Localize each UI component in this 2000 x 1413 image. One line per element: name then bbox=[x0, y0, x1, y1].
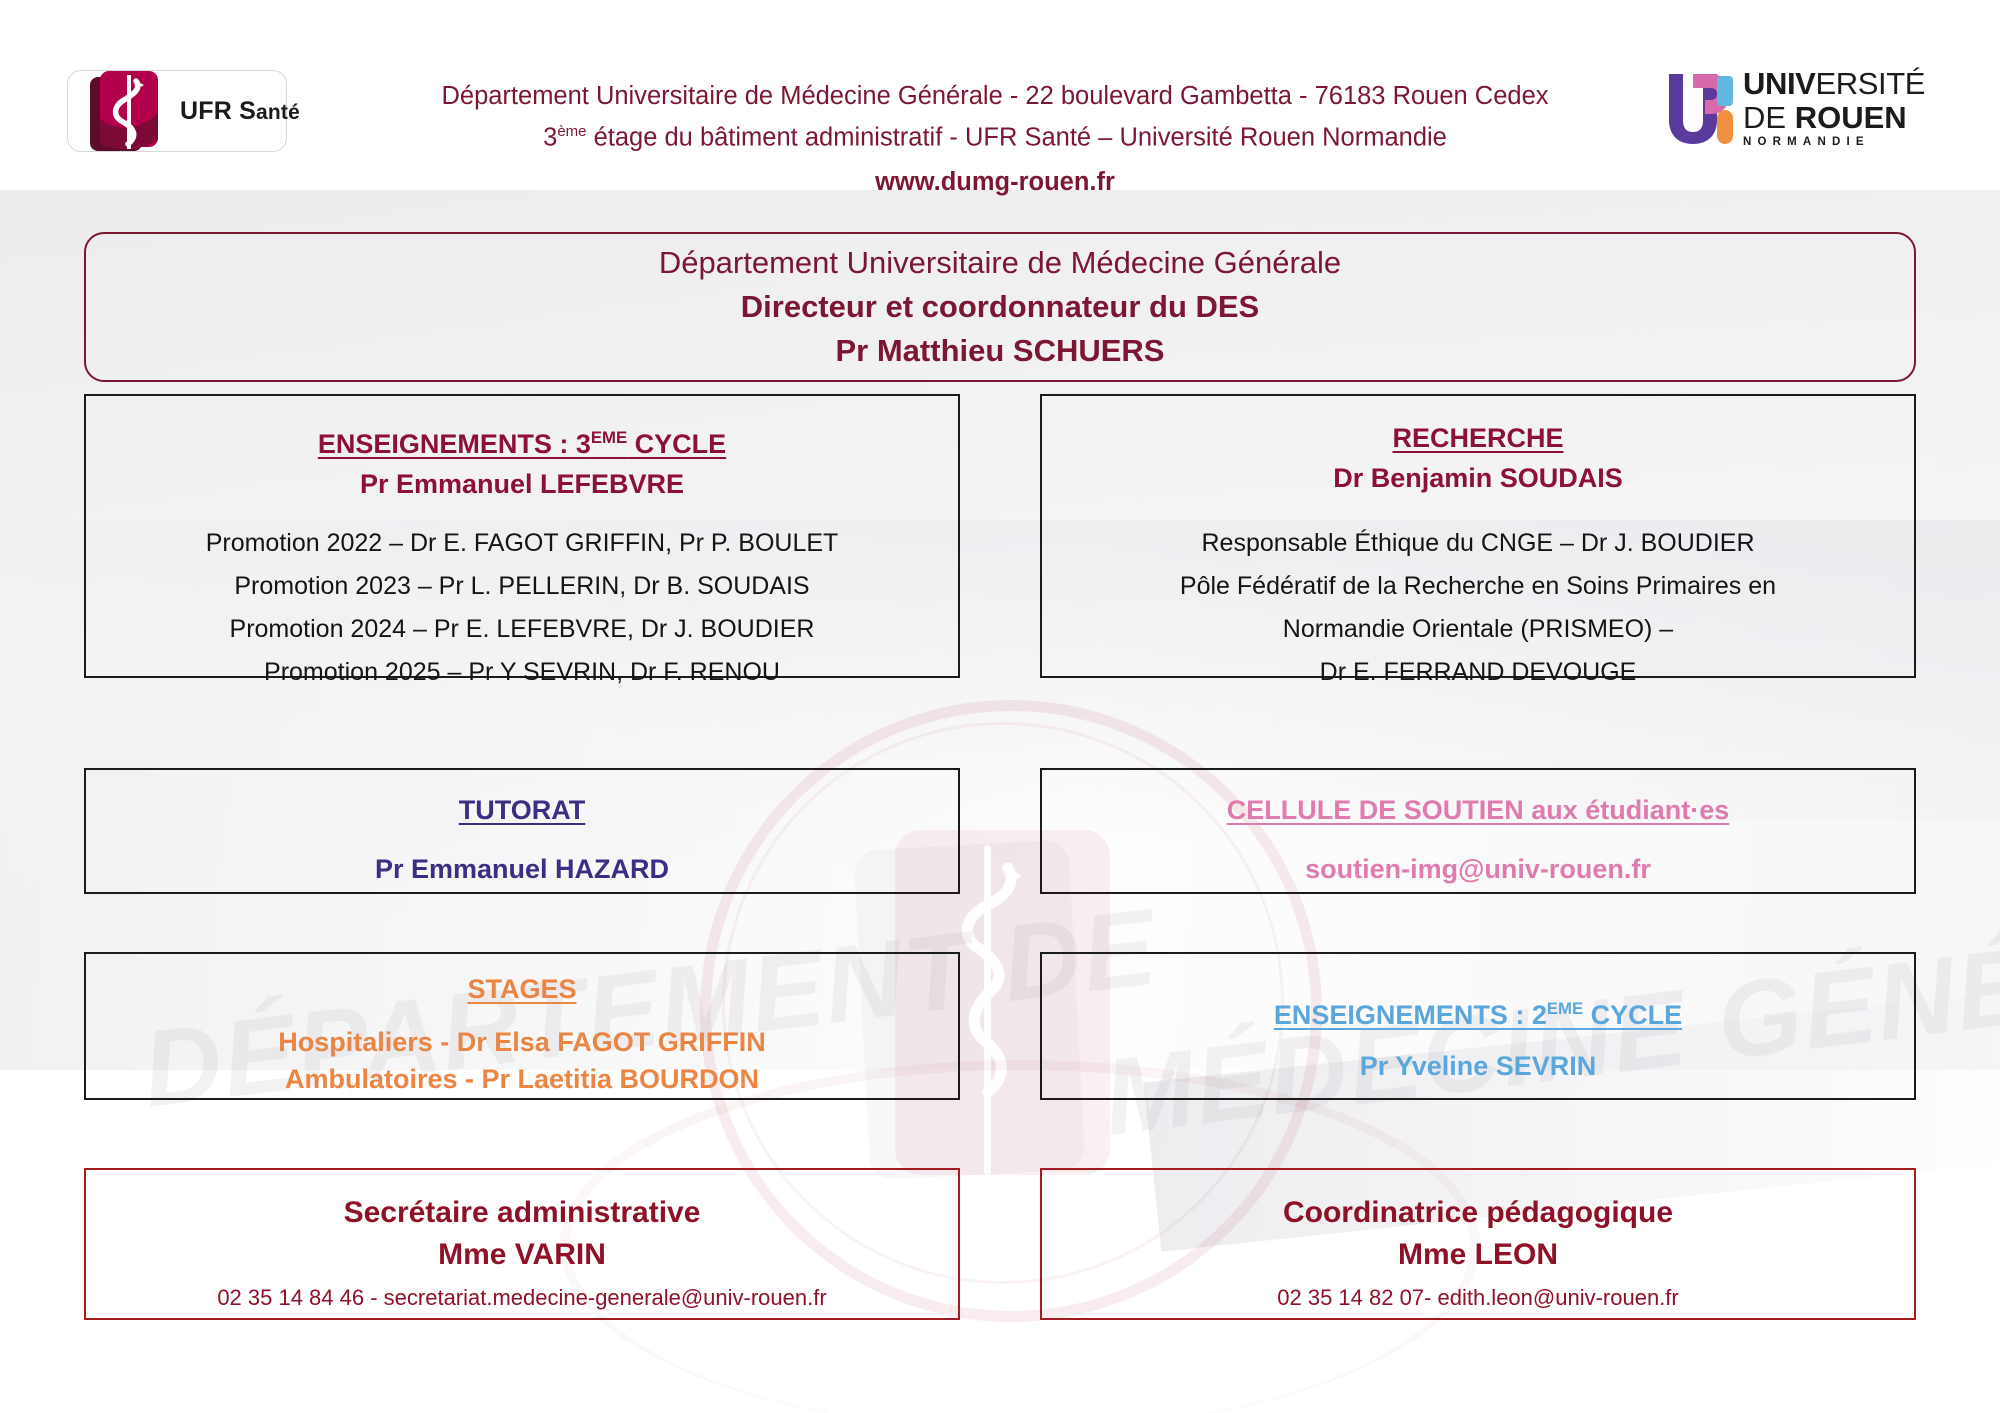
enseignements3-heading-sup: EME bbox=[591, 428, 627, 447]
coordinatrice-role: Coordinatrice pédagogique bbox=[1042, 1192, 1914, 1234]
univ-line2-rouen: ROUEN bbox=[1795, 100, 1907, 135]
cellule-soutien-heading: CELLULE DE SOUTIEN aux étudiant·es bbox=[1227, 792, 1730, 828]
ufr-sante-logo: UFR Santé bbox=[67, 70, 287, 152]
enseignements2-heading: ENSEIGNEMENTS : 2EME CYCLE bbox=[1274, 992, 1682, 1032]
stages-line-ambulatoires: Ambulatoires - Pr Laetitia BOURDON bbox=[86, 1061, 958, 1098]
enseignements2-heading-sup: EME bbox=[1547, 999, 1583, 1018]
tutorat-heading: TUTORAT bbox=[459, 792, 585, 828]
panel-cellule-de-soutien: CELLULE DE SOUTIEN aux étudiant·es souti… bbox=[1040, 768, 1916, 894]
univ-line-3: NORMANDIE bbox=[1743, 137, 1925, 149]
header-address-line-1: Département Universitaire de Médecine Gé… bbox=[330, 78, 1660, 114]
recherche-subheading: Dr Benjamin SOUDAIS bbox=[1042, 459, 1914, 497]
enseignements3-heading: ENSEIGNEMENTS : 3EME CYCLE bbox=[318, 420, 726, 462]
univ-wordmark: UNIVERSITÉ DE ROUEN NORMANDIE bbox=[1743, 68, 1925, 149]
cellule-soutien-email[interactable]: soutien-img@univ-rouen.fr bbox=[1042, 850, 1914, 888]
univ-line-1: UNIVERSITÉ bbox=[1743, 68, 1925, 99]
recherche-line-2: Normandie Orientale (PRISMEO) – bbox=[1042, 608, 1914, 651]
recherche-line-0: Responsable Éthique du CNGE – Dr J. BOUD… bbox=[1042, 522, 1914, 565]
coordinatrice-name: Mme LEON bbox=[1042, 1234, 1914, 1276]
panel-stages: STAGES Hospitaliers - Dr Elsa FAGOT GRIF… bbox=[84, 952, 960, 1100]
header-address-block: Département Universitaire de Médecine Gé… bbox=[330, 78, 1660, 200]
header-website[interactable]: www.dumg-rouen.fr bbox=[330, 164, 1660, 200]
recherche-heading: RECHERCHE bbox=[1392, 420, 1563, 456]
enseignements3-line-3: Promotion 2025 – Pr Y SEVRIN, Dr F. RENO… bbox=[86, 651, 958, 694]
recherche-line-3: Dr E. FERRAND DEVOUGE bbox=[1042, 651, 1914, 694]
enseignements2-heading-post: CYCLE bbox=[1583, 1000, 1682, 1030]
secretaire-contact[interactable]: 02 35 14 84 46 - secretariat.medecine-ge… bbox=[86, 1281, 958, 1315]
secretaire-name: Mme VARIN bbox=[86, 1234, 958, 1276]
secretaire-role: Secrétaire administrative bbox=[86, 1192, 958, 1234]
ufr-caduceus-icon bbox=[84, 63, 172, 161]
ufr-text-bold: UFR S bbox=[180, 97, 256, 125]
ufr-sante-wordmark: UFR Santé bbox=[180, 97, 300, 126]
page-header: UFR Santé Département Universitaire de M… bbox=[0, 0, 2000, 195]
stages-line-hospitaliers: Hospitaliers - Dr Elsa FAGOT GRIFFIN bbox=[86, 1024, 958, 1061]
tutorat-subheading: Pr Emmanuel HAZARD bbox=[86, 850, 958, 888]
univ-line1-rest: ERSITÉ bbox=[1815, 66, 1925, 101]
enseignements3-line-1: Promotion 2023 – Pr L. PELLERIN, Dr B. S… bbox=[86, 565, 958, 608]
enseignements3-heading-post: CYCLE bbox=[627, 429, 726, 459]
univ-line-2: DE ROUEN bbox=[1743, 102, 1925, 133]
panel-tutorat: TUTORAT Pr Emmanuel HAZARD bbox=[84, 768, 960, 894]
univ-line2-de: DE bbox=[1743, 100, 1795, 135]
header-address-line-2: 3ème étage du bâtiment administratif - U… bbox=[330, 114, 1660, 156]
enseignements2-heading-pre: ENSEIGNEMENTS : 2 bbox=[1274, 1000, 1547, 1030]
coordinatrice-contact[interactable]: 02 35 14 82 07- edith.leon@univ-rouen.fr bbox=[1042, 1281, 1914, 1315]
enseignements3-line-0: Promotion 2022 – Dr E. FAGOT GRIFFIN, Pr… bbox=[86, 522, 958, 565]
stages-heading: STAGES bbox=[467, 972, 576, 1006]
address-floor-rest: étage du bâtiment administratif - UFR Sa… bbox=[587, 124, 1447, 152]
panel-secretaire-administrative: Secrétaire administrative Mme VARIN 02 3… bbox=[84, 1168, 960, 1320]
watermark-asclepius-rod bbox=[984, 845, 991, 1175]
document-page: DÉPARTEMENT DE MÉDECINE GÉNÉRALE UFR San… bbox=[0, 0, 2000, 1413]
panel-enseignements-3eme-cycle: ENSEIGNEMENTS : 3EME CYCLE Pr Emmanuel L… bbox=[84, 394, 960, 678]
department-title-box: Département Universitaire de Médecine Gé… bbox=[84, 232, 1916, 382]
recherche-line-1: Pôle Fédératif de la Recherche en Soins … bbox=[1042, 565, 1914, 608]
panel-coordinatrice-pedagogique: Coordinatrice pédagogique Mme LEON 02 35… bbox=[1040, 1168, 1916, 1320]
title-line-name: Pr Matthieu SCHUERS bbox=[836, 329, 1165, 373]
enseignements3-subheading: Pr Emmanuel LEFEBVRE bbox=[86, 465, 958, 503]
panel-recherche: RECHERCHE Dr Benjamin SOUDAIS Responsabl… bbox=[1040, 394, 1916, 678]
title-line-role: Directeur et coordonnateur du DES bbox=[741, 285, 1259, 329]
enseignements3-line-2: Promotion 2024 – Pr E. LEFEBVRE, Dr J. B… bbox=[86, 608, 958, 651]
panel-enseignements-2eme-cycle: ENSEIGNEMENTS : 2EME CYCLE Pr Yveline SE… bbox=[1040, 952, 1916, 1100]
address-floor-number: 3 bbox=[543, 124, 557, 152]
title-line-department: Département Universitaire de Médecine Gé… bbox=[659, 241, 1341, 285]
univ-line1-bold: UNIV bbox=[1743, 66, 1815, 101]
enseignements2-subheading: Pr Yveline SEVRIN bbox=[1042, 1048, 1914, 1085]
ufr-text-rest: anté bbox=[256, 101, 300, 124]
universite-rouen-normandie-logo: UNIVERSITÉ DE ROUEN NORMANDIE bbox=[1665, 66, 1945, 156]
address-floor-ordinal: ème bbox=[557, 123, 586, 140]
univ-u-mark-icon bbox=[1665, 70, 1743, 148]
enseignements3-heading-pre: ENSEIGNEMENTS : 3 bbox=[318, 429, 591, 459]
